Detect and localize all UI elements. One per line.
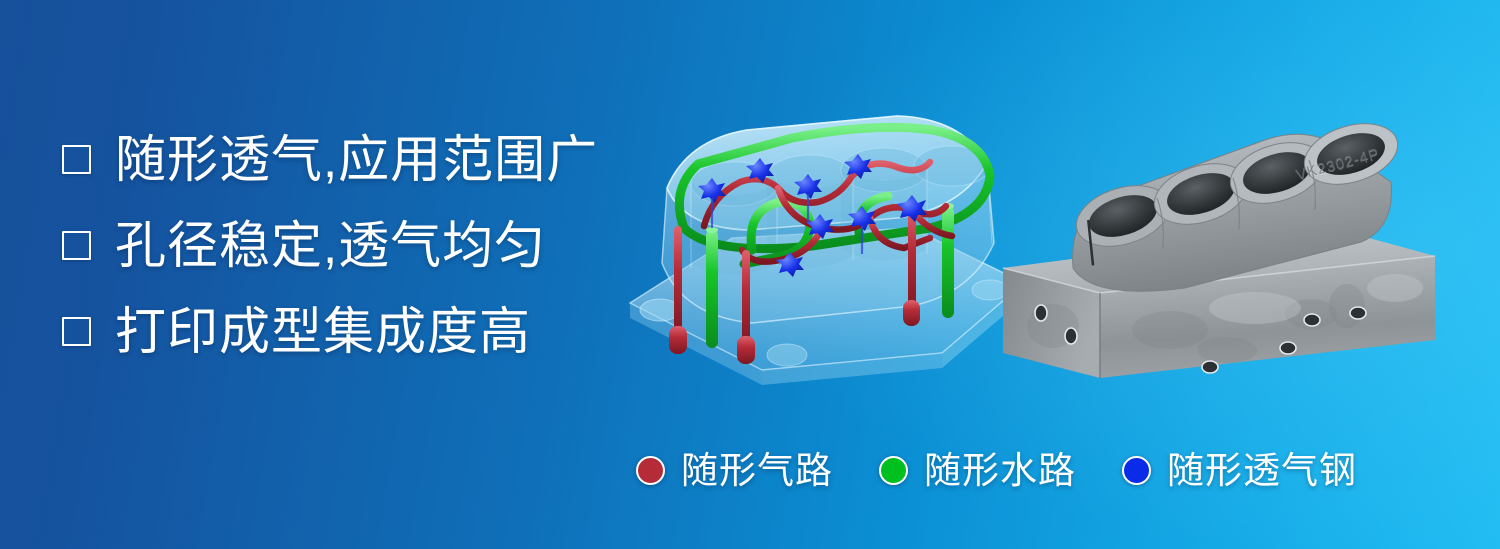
square-outline-icon — [62, 317, 91, 346]
square-outline-icon — [62, 145, 91, 174]
green-dot-icon — [879, 456, 908, 485]
legend-label: 随形透气钢 — [1167, 452, 1357, 489]
feature-item: 孔径稳定,透气均匀 — [62, 202, 662, 288]
channel-legend: 随形气路 随形水路 随形透气钢 — [636, 452, 1357, 489]
legend-label: 随形水路 — [924, 452, 1076, 489]
printed-metal-mold-insert: VK2302-4P — [995, 78, 1465, 378]
feature-label: 孔径稳定,透气均匀 — [115, 220, 546, 271]
feature-item: 打印成型集成度高 — [62, 288, 662, 374]
conformal-channel-mold-cad — [612, 78, 1042, 388]
legend-item-gas-channel: 随形气路 — [636, 452, 833, 489]
feature-label: 随形透气,应用范围广 — [115, 134, 598, 185]
blue-dot-icon — [1122, 456, 1151, 485]
feature-item: 随形透气,应用范围广 — [62, 116, 662, 202]
feature-list: 随形透气,应用范围广 孔径稳定,透气均匀 打印成型集成度高 — [62, 116, 662, 374]
legend-item-vent-steel: 随形透气钢 — [1122, 452, 1357, 489]
legend-item-water-channel: 随形水路 — [879, 452, 1076, 489]
legend-label: 随形气路 — [681, 452, 833, 489]
promo-banner: 随形透气,应用范围广 孔径稳定,透气均匀 打印成型集成度高 — [0, 0, 1500, 549]
red-dot-icon — [636, 456, 665, 485]
square-outline-icon — [62, 231, 91, 260]
feature-label: 打印成型集成度高 — [115, 306, 531, 357]
